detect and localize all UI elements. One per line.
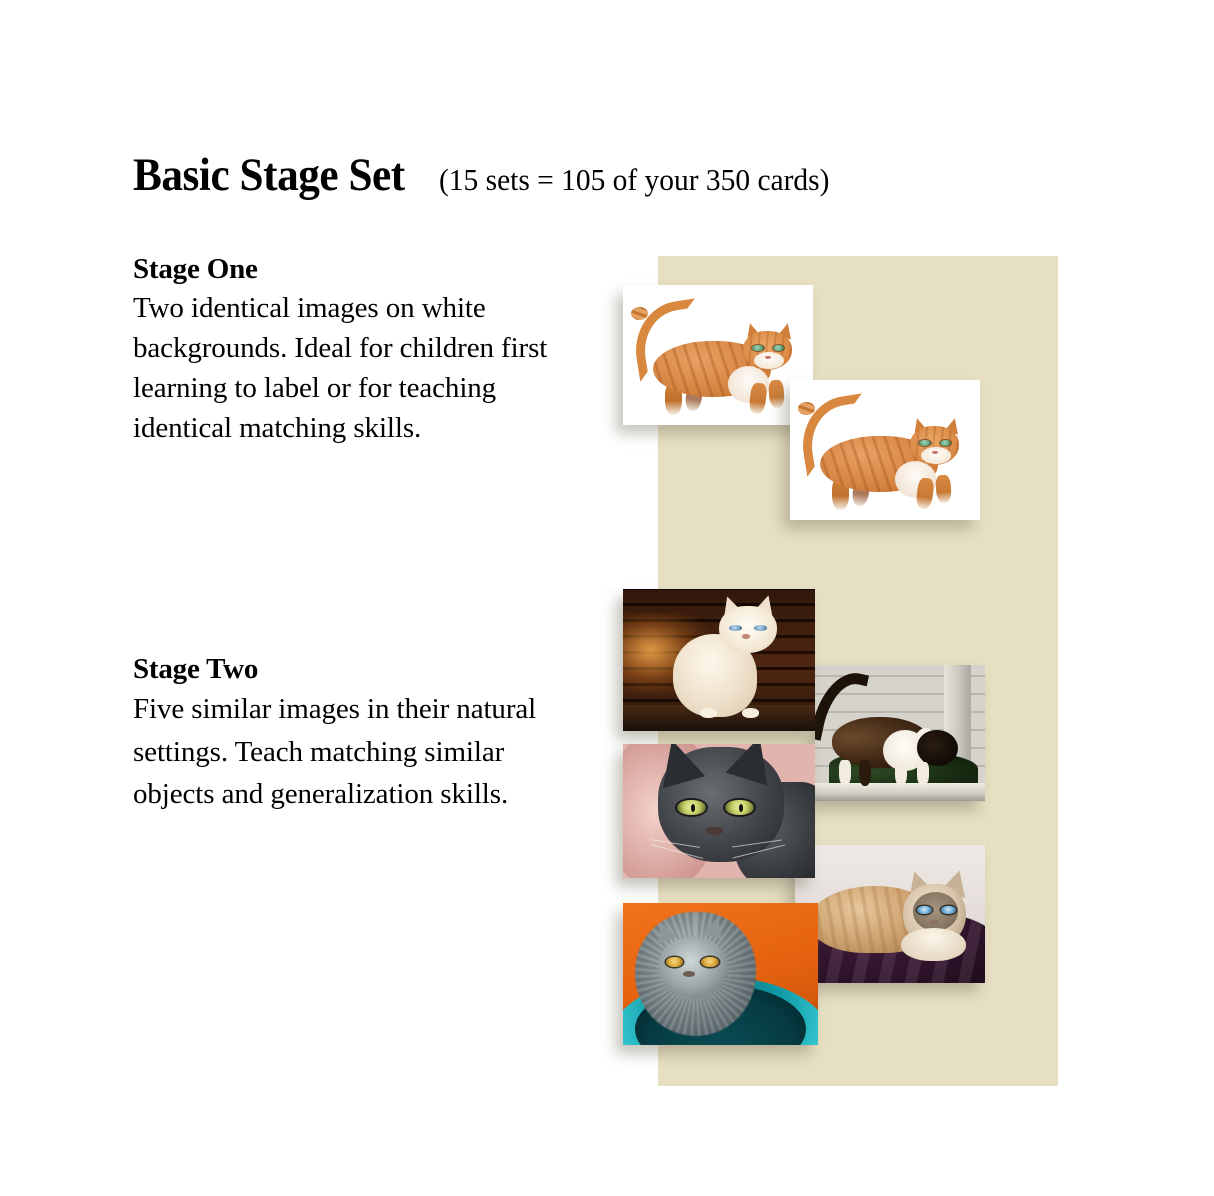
stage-one-card-1 <box>623 285 813 425</box>
stage-two-body: Five similar images in their natural set… <box>133 688 585 815</box>
cat-front-leg-right <box>935 475 952 504</box>
stage-one-body: Two identical images on white background… <box>133 288 585 448</box>
title-main-text: Basic Stage Set <box>133 152 405 199</box>
cat-paw-left <box>700 708 717 718</box>
stage-two-text-block: Stage Two Five similar images in their n… <box>133 652 585 815</box>
brick-scene <box>623 589 815 731</box>
cream-cat-illustration <box>623 589 815 731</box>
cat-front-leg-left <box>915 477 935 510</box>
stage-two-photo-calico-ledge <box>815 665 985 801</box>
cat-eye-right <box>754 625 767 631</box>
pink-blanket-scene <box>623 744 815 878</box>
page-title: Basic Stage Set (15 sets = 105 of your 3… <box>133 152 850 199</box>
cat-eye-left <box>666 957 684 967</box>
cat-eye-left <box>677 800 706 815</box>
cat-leg-4 <box>917 762 929 786</box>
tan-cat-illustration <box>795 845 985 983</box>
cat-leg-1 <box>839 760 851 786</box>
poster-page: Basic Stage Set (15 sets = 105 of your 3… <box>0 0 1214 1196</box>
orange-tabby-illustration-1 <box>623 285 813 425</box>
gray-cat-illustration <box>623 744 815 878</box>
cat-nose <box>742 634 750 638</box>
cat-face <box>658 937 728 997</box>
cat-front-leg-right <box>768 380 785 409</box>
cat-eye-left <box>729 625 742 631</box>
cat-eye-right <box>701 957 719 967</box>
stage-two-photo-persian-kitten-bowl <box>623 903 818 1045</box>
porch-scene <box>815 665 985 801</box>
title-subtitle-text: (15 sets = 105 of your 350 cards) <box>439 164 829 195</box>
cat-tail-tip <box>798 402 815 415</box>
stage-two-heading: Stage Two <box>133 652 585 686</box>
stage-two-photo-gray-cat-pink <box>623 744 815 878</box>
orange-bowl-scene <box>623 903 818 1045</box>
stage-one-heading: Stage One <box>133 252 585 286</box>
stage-one-text-block: Stage One Two identical images on white … <box>133 252 585 448</box>
cat-leg-2 <box>859 760 871 786</box>
cat-tail-tip <box>631 307 648 320</box>
stage-two-photo-tan-cat-purple <box>795 845 985 983</box>
cat-nose <box>706 827 723 835</box>
purple-blanket-scene <box>795 845 985 983</box>
calico-cat-illustration <box>815 665 985 801</box>
cat-pupil-left <box>691 804 696 813</box>
cat-paw-right <box>742 708 759 718</box>
cat-neck-ruff <box>901 928 966 961</box>
cat-head <box>917 730 958 765</box>
cat-leg-3 <box>895 762 907 786</box>
cat-pupil-right <box>739 804 744 813</box>
cat-front-leg-left <box>748 382 768 415</box>
cat-eye-right <box>725 800 754 815</box>
cat-nose <box>683 971 695 977</box>
cat-eye-left <box>917 906 932 914</box>
stage-two-photo-cream-cat-brick <box>623 589 815 731</box>
cat-head <box>719 606 777 653</box>
stage-one-card-2 <box>790 380 980 520</box>
orange-tabby-illustration-2 <box>790 380 980 520</box>
persian-kitten-illustration <box>623 903 818 1045</box>
